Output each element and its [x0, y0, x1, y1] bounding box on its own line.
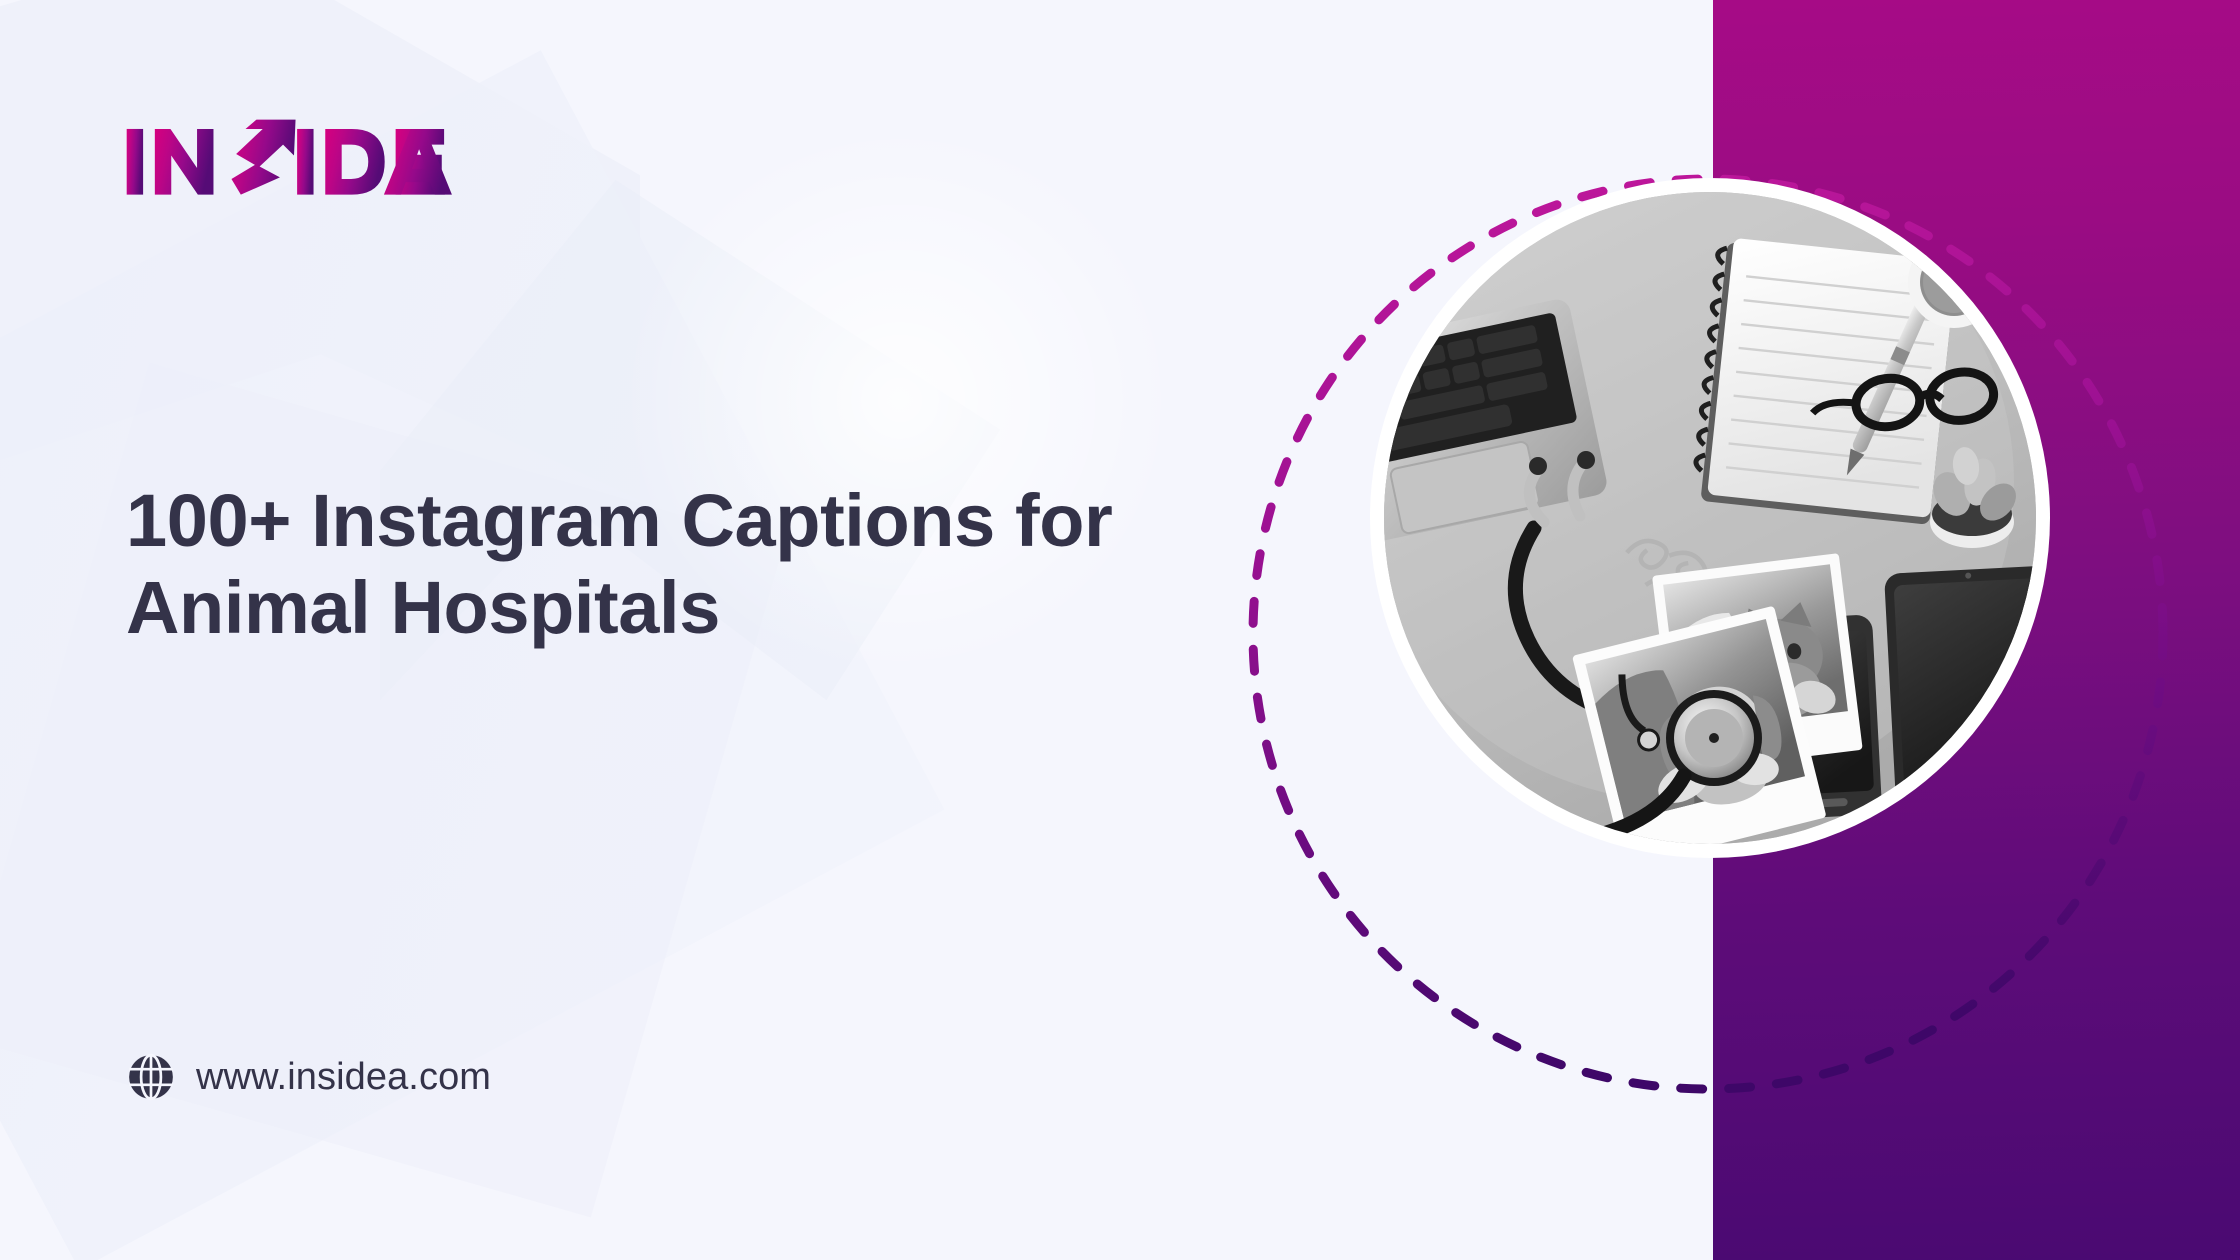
insidea-logo — [122, 118, 458, 204]
hero-photo-circle — [1370, 178, 2050, 858]
site-url-label: www.insidea.com — [196, 1056, 491, 1099]
page-title: 100+ Instagram Captions for Animal Hospi… — [126, 478, 1136, 651]
site-url[interactable]: www.insidea.com — [126, 1052, 491, 1102]
blog-banner: 100+ Instagram Captions for Animal Hospi… — [0, 0, 2240, 1260]
globe-icon — [126, 1052, 176, 1102]
bg-chevron-shape — [0, 0, 640, 500]
veterinary-desk-flatlay — [1384, 192, 2036, 844]
